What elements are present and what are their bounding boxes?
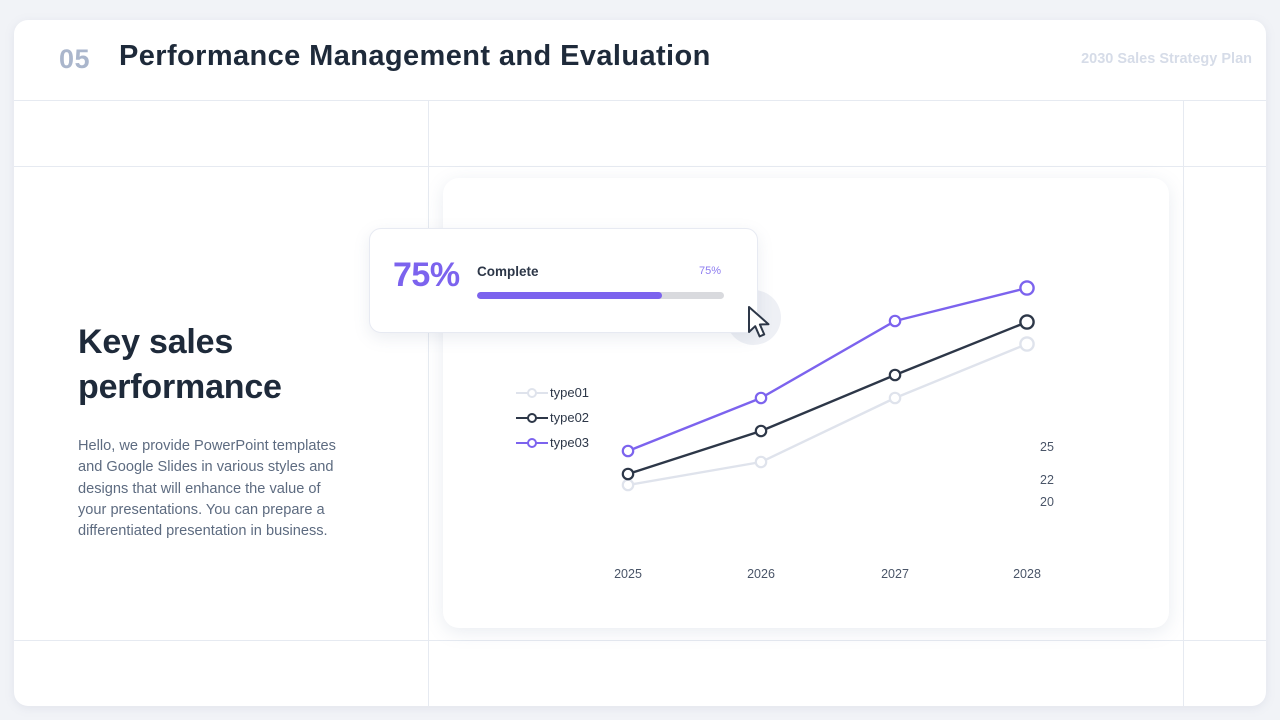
value-label-type02: 22 bbox=[1040, 473, 1054, 487]
x-axis-tick-2025: 2025 bbox=[614, 567, 642, 581]
legend-marker-type02-icon bbox=[515, 412, 549, 424]
legend-marker-type01-icon bbox=[515, 387, 549, 399]
progress-small-percent: 75% bbox=[699, 265, 721, 277]
slide-canvas: 05 Performance Management and Evaluation… bbox=[14, 20, 1266, 706]
x-axis-tick-2027: 2027 bbox=[881, 567, 909, 581]
progress-caption: Complete bbox=[477, 264, 539, 279]
value-label-type01: 20 bbox=[1040, 495, 1054, 509]
series-line-type02 bbox=[628, 322, 1027, 474]
data-point-type03-2026 bbox=[756, 393, 766, 403]
data-point-type01-2026 bbox=[756, 457, 766, 467]
data-point-type03-2025 bbox=[623, 446, 633, 456]
headline: Key sales performance bbox=[78, 320, 378, 410]
x-axis-tick-2026: 2026 bbox=[747, 567, 775, 581]
progress-popup-card[interactable]: 75% Complete 75% bbox=[369, 228, 758, 333]
progress-big-percent: 75% bbox=[393, 256, 460, 295]
slide-number: 05 bbox=[59, 44, 90, 75]
legend-label-type01: type01 bbox=[550, 385, 589, 400]
legend-label-type03: type03 bbox=[550, 435, 589, 450]
arrow-cursor-icon bbox=[747, 306, 777, 342]
page-title: Performance Management and Evaluation bbox=[119, 40, 711, 73]
progress-bar-fill bbox=[477, 292, 662, 299]
data-point-type02-2028 bbox=[1020, 315, 1033, 328]
data-point-type03-2027 bbox=[890, 316, 900, 326]
data-point-type02-2025 bbox=[623, 469, 633, 479]
x-axis-tick-2028: 2028 bbox=[1013, 567, 1041, 581]
value-label-type03: 25 bbox=[1040, 440, 1054, 454]
layout-divider-horizontal-top bbox=[14, 166, 1266, 167]
data-point-type02-2026 bbox=[756, 426, 766, 436]
data-point-type01-2025 bbox=[623, 480, 633, 490]
progress-bar-track[interactable] bbox=[477, 292, 724, 299]
data-point-type02-2027 bbox=[890, 370, 900, 380]
data-point-type03-2028 bbox=[1020, 281, 1033, 294]
data-point-type01-2027 bbox=[890, 393, 900, 403]
legend-marker-type03-icon bbox=[515, 437, 549, 449]
headline-line-1: Key sales bbox=[78, 323, 233, 361]
legend-item-type01[interactable]: type01 bbox=[515, 380, 589, 405]
deck-label: 2030 Sales Strategy Plan bbox=[1081, 51, 1252, 67]
layout-divider-vertical-left bbox=[428, 101, 429, 706]
slide-header: 05 Performance Management and Evaluation… bbox=[14, 20, 1266, 101]
legend-label-type02: type02 bbox=[550, 410, 589, 425]
body-paragraph: Hello, we provide PowerPoint templates a… bbox=[78, 436, 353, 542]
legend-item-type03[interactable]: type03 bbox=[515, 430, 589, 455]
headline-line-2: performance bbox=[78, 368, 282, 406]
legend-item-type02[interactable]: type02 bbox=[515, 405, 589, 430]
chart-legend: type01 type02 type03 bbox=[515, 380, 589, 455]
layout-divider-vertical-right bbox=[1183, 101, 1184, 706]
layout-divider-horizontal-bottom bbox=[14, 640, 1266, 641]
data-point-type01-2028 bbox=[1020, 337, 1033, 350]
series-line-type01 bbox=[628, 344, 1027, 485]
left-text-column: Key sales performance Hello, we provide … bbox=[78, 320, 378, 542]
